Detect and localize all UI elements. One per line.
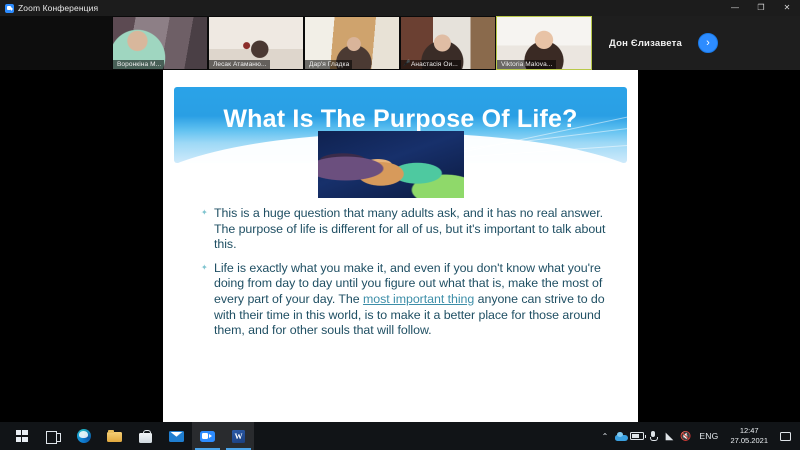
- onedrive-icon[interactable]: [613, 422, 629, 450]
- task-view-icon: [46, 431, 60, 442]
- shared-screen-area: What Is The Purpose Of Life? ✦ This is a…: [0, 70, 800, 422]
- participant-name: Дар'я Гладка: [305, 60, 352, 69]
- task-view-button[interactable]: [37, 422, 68, 450]
- window-controls: — ❐ ✕: [722, 0, 800, 16]
- edge-icon: [77, 429, 91, 443]
- most-important-thing-link[interactable]: most important thing: [363, 292, 474, 306]
- battery-icon[interactable]: [629, 422, 645, 450]
- zoom-icon: [200, 431, 215, 442]
- folder-icon: [107, 430, 122, 442]
- participant-name: Воронкіна М...: [113, 60, 164, 69]
- bullet-text: Life is exactly what you make it, and ev…: [214, 261, 609, 339]
- powerpoint-slide[interactable]: What Is The Purpose Of Life? ✦ This is a…: [163, 70, 638, 422]
- bullet-text: This is a huge question that many adults…: [214, 206, 609, 253]
- notification-center-icon[interactable]: [774, 422, 796, 450]
- clock[interactable]: 12:47 27.05.2021: [724, 422, 774, 450]
- participant-name: Анастасія Ои...: [401, 60, 461, 69]
- wifi-icon[interactable]: ◣: [661, 422, 677, 450]
- windows-logo-icon: [16, 430, 28, 442]
- slide-title: What Is The Purpose Of Life?: [174, 105, 627, 134]
- edge-button[interactable]: [68, 422, 99, 450]
- minimize-button[interactable]: —: [722, 0, 748, 16]
- participant-tile[interactable]: 🎤 Анастасія Ои...: [400, 16, 496, 70]
- zoom-logo-icon: [5, 4, 14, 13]
- participant-name: Viktoria Malova...: [497, 60, 556, 69]
- bullet-star-icon: ✦: [201, 206, 214, 253]
- clock-date: 27.05.2021: [730, 436, 768, 446]
- clock-time: 12:47: [740, 426, 759, 436]
- bullet-text-run: This is a huge question that many adults…: [214, 206, 605, 251]
- mail-button[interactable]: [161, 422, 192, 450]
- volume-muted-icon[interactable]: 🔇: [677, 422, 693, 450]
- microsoft-store-button[interactable]: [130, 422, 161, 450]
- start-button[interactable]: [6, 422, 37, 450]
- slide-bullet: ✦ This is a huge question that many adul…: [201, 206, 609, 253]
- close-button[interactable]: ✕: [774, 0, 800, 16]
- participant-tile[interactable]: Лесак Атаманю...: [208, 16, 304, 70]
- desktop-screen: Zoom Конференция — ❐ ✕ Воронкіна М... Ле…: [0, 0, 800, 450]
- file-explorer-button[interactable]: [99, 422, 130, 450]
- system-tray: ⌃ ◣ 🔇 ENG 12:47 27.05.2021: [596, 422, 800, 450]
- word-button[interactable]: W: [223, 422, 254, 450]
- active-speaker-label: Дон Єлизавета: [609, 38, 682, 49]
- taskbar-buttons: W: [0, 422, 254, 450]
- participant-tile[interactable]: Дар'я Гладка: [304, 16, 400, 70]
- bullet-star-icon: ✦: [201, 261, 214, 339]
- participant-name: Лесак Атаманю...: [209, 60, 270, 69]
- store-icon: [139, 430, 152, 443]
- microphone-icon[interactable]: [645, 422, 661, 450]
- windows-taskbar: W ⌃ ◣ 🔇 ENG 12:47 27.05.2021: [0, 422, 800, 450]
- filmstrip-right-panel: Дон Єлизавета ›: [592, 16, 800, 70]
- slide-body: ✦ This is a huge question that many adul…: [201, 206, 609, 347]
- word-icon: W: [232, 430, 245, 443]
- maximize-button[interactable]: ❐: [748, 0, 774, 16]
- chevron-right-icon[interactable]: ›: [698, 33, 718, 53]
- language-indicator[interactable]: ENG: [693, 422, 724, 450]
- soul-movie-image: [318, 131, 464, 198]
- zoom-button[interactable]: [192, 422, 223, 450]
- participant-tile-active-speaker[interactable]: Viktoria Malova...: [496, 16, 592, 70]
- slide-bullet: ✦ Life is exactly what you make it, and …: [201, 261, 609, 339]
- participant-tile[interactable]: Воронкіна М...: [112, 16, 208, 70]
- zoom-window-titlebar: Zoom Конференция — ❐ ✕: [0, 0, 800, 16]
- tray-overflow-button[interactable]: ⌃: [596, 422, 613, 450]
- window-title: Zoom Конференция: [18, 3, 98, 13]
- mail-icon: [169, 431, 184, 442]
